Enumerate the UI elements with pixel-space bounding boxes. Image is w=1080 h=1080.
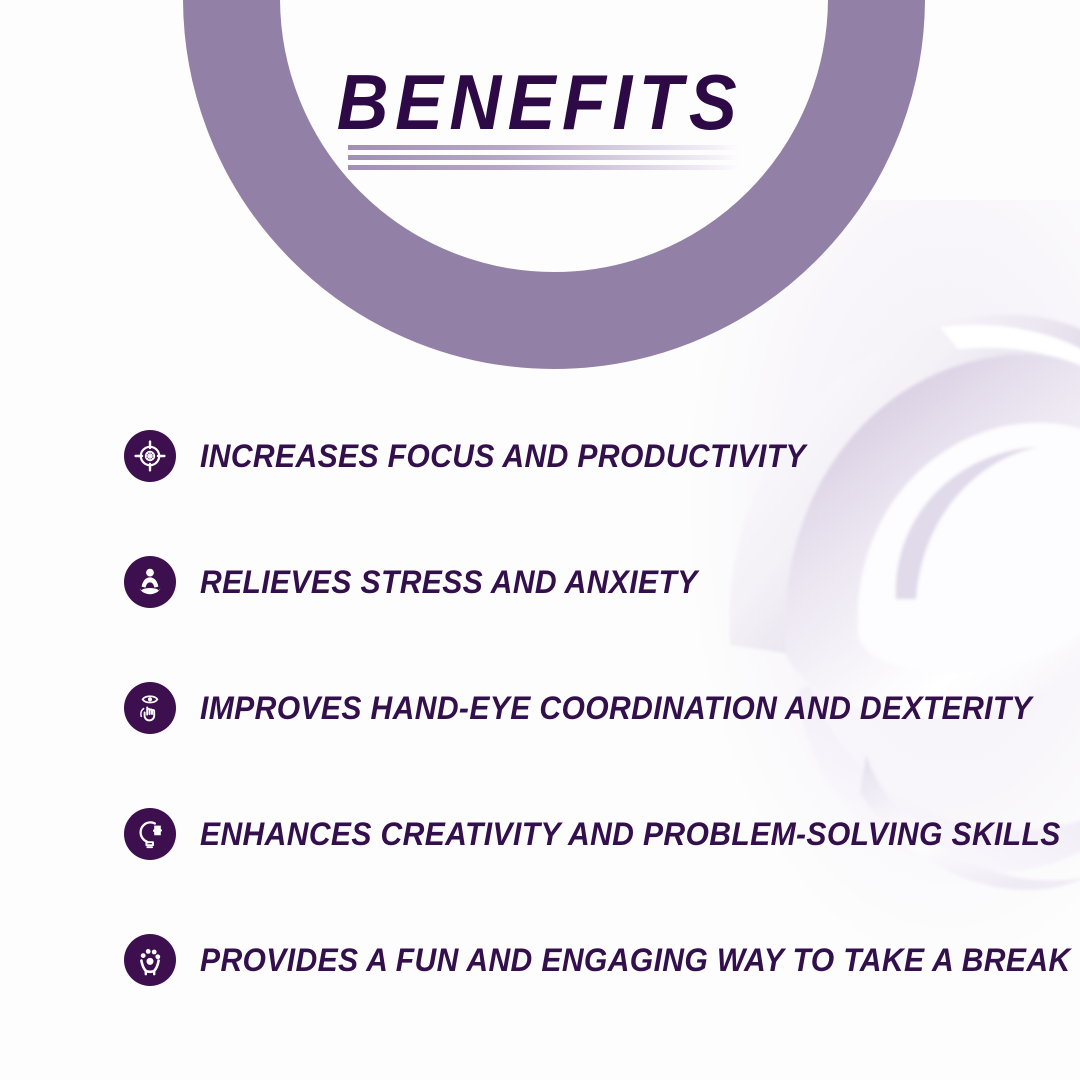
list-item: INCREASES FOCUS AND PRODUCTIVITY: [124, 428, 1024, 484]
list-item-label: INCREASES FOCUS AND PRODUCTIVITY: [200, 438, 806, 474]
list-item: IMPROVES HAND-EYE COORDINATION AND DEXTE…: [124, 680, 1024, 736]
list-item-label: IMPROVES HAND-EYE COORDINATION AND DEXTE…: [200, 690, 1032, 726]
list-item: PROVIDES A FUN AND ENGAGING WAY TO TAKE …: [124, 932, 1024, 988]
target-icon: [124, 430, 176, 482]
title-rule-2: [348, 155, 744, 160]
list-item-label: ENHANCES CREATIVITY AND PROBLEM-SOLVING …: [200, 816, 1061, 852]
list-item: ENHANCES CREATIVITY AND PROBLEM-SOLVING …: [124, 806, 1024, 862]
title-underline-rules: [348, 145, 744, 175]
poster-header: BENEFITS: [0, 0, 1080, 200]
meditation-icon: [124, 556, 176, 608]
list-item: RELIEVES STRESS AND ANXIETY: [124, 554, 1024, 610]
hand-play-icon: [124, 934, 176, 986]
title-rule-1: [348, 145, 744, 150]
list-item-label: PROVIDES A FUN AND ENGAGING WAY TO TAKE …: [200, 942, 1071, 978]
benefits-poster: BENEFITS: [0, 0, 1080, 1080]
title-rule-3: [348, 165, 744, 170]
benefits-list: INCREASES FOCUS AND PRODUCTIVITY RELIEVE…: [124, 428, 1024, 1058]
list-item-label: RELIEVES STRESS AND ANXIETY: [200, 564, 698, 600]
hand-eye-icon: [124, 682, 176, 734]
page-title: BENEFITS: [43, 62, 1037, 142]
lightbulb-puzzle-icon: [124, 808, 176, 860]
